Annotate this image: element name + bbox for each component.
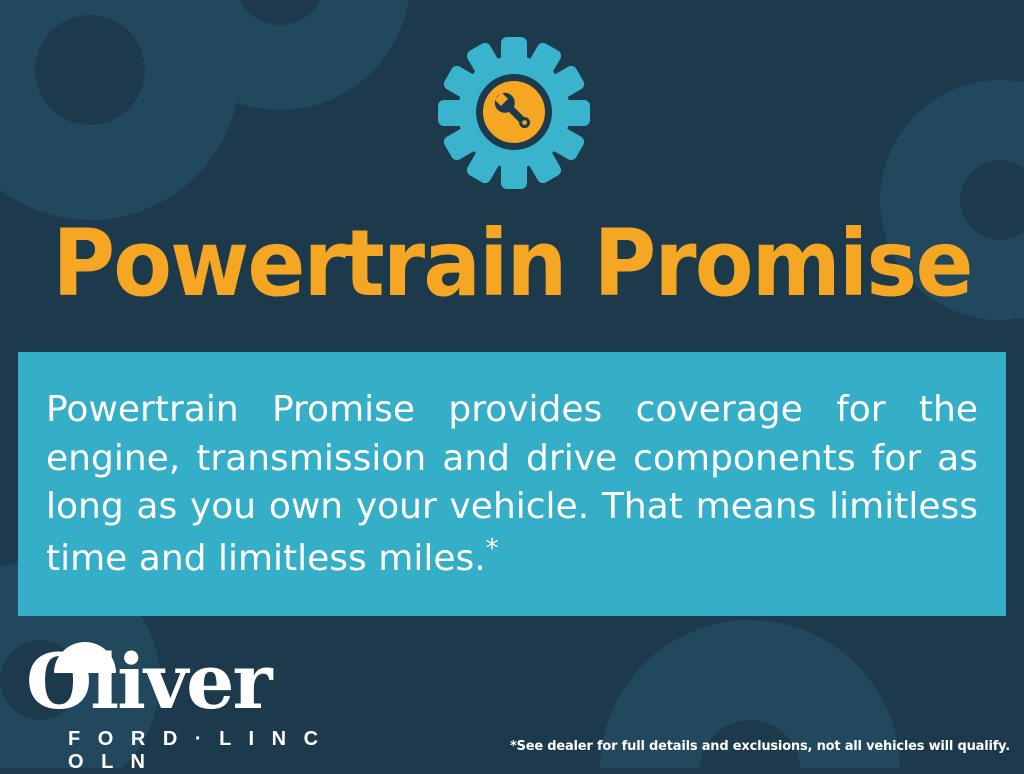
- wrench-icon: [483, 81, 545, 143]
- asterisk-marker: *: [486, 534, 499, 564]
- gear-wrench-icon: [436, 28, 591, 198]
- background-gear-hole: [35, 15, 145, 125]
- logo-subtitle: F O R D · L I N C O L N: [68, 728, 346, 774]
- promise-body-copy: Powertrain Promise provides coverage for…: [46, 389, 978, 579]
- disclaimer-text: *See dealer for full details and exclusi…: [510, 739, 1010, 754]
- promise-panel: Powertrain Promise provides coverage for…: [18, 352, 1006, 616]
- dealer-logo: Oliver F O R D · L I N C O L N: [26, 636, 346, 756]
- background-gear-hole: [235, 0, 325, 25]
- page-title: Powertrain Promise: [36, 218, 988, 310]
- promise-body-text: Powertrain Promise provides coverage for…: [46, 386, 978, 583]
- logo-brand-text: Oliver: [26, 644, 271, 720]
